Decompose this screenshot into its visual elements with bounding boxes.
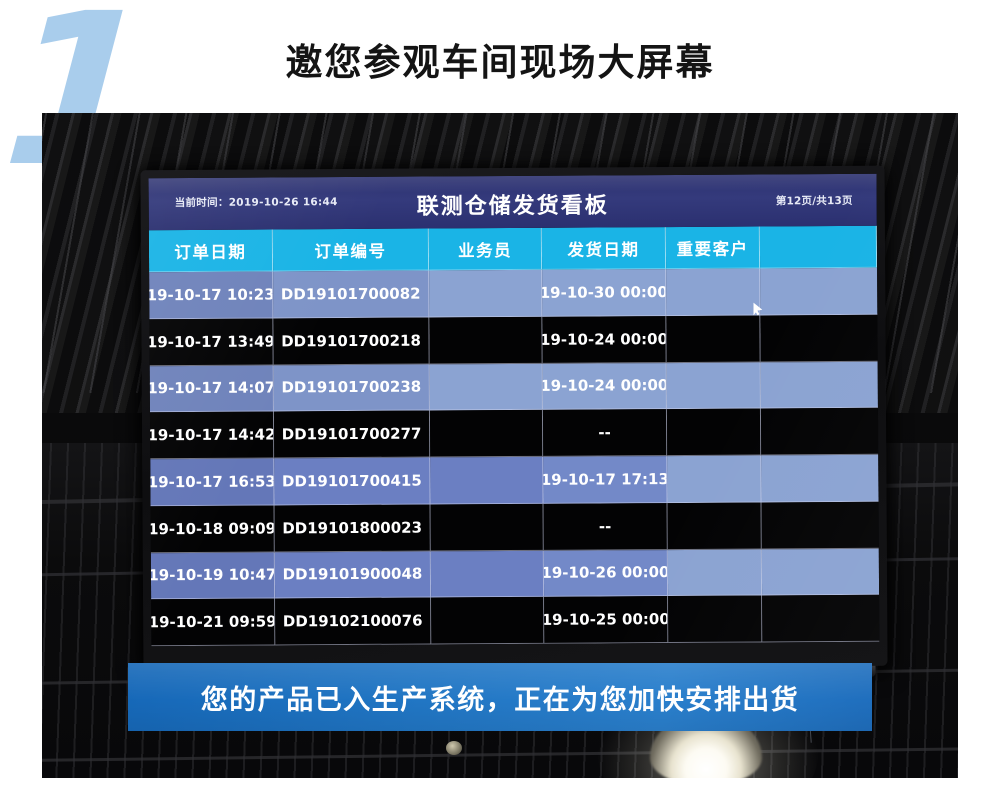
shipping-table: 订单日期 订单编号 业务员 发货日期 重要客户 19-10-17 10:23 D… (149, 226, 880, 646)
cell-ship-date: 19-10-24 00:00 (542, 316, 666, 364)
cell-order-no: DD19101700082 (273, 271, 430, 319)
cell-order-no: DD19101900048 (275, 551, 432, 599)
cell-key-customer (667, 409, 762, 456)
cell-key-customer (667, 362, 762, 409)
cell-extra (761, 268, 878, 315)
cell-order-no: DD19102100076 (275, 598, 432, 646)
cell-key-customer (666, 315, 761, 362)
cell-extra (762, 548, 879, 595)
cell-salesperson (430, 410, 543, 457)
table-row: 19-10-21 09:59 DD19102100076 19-10-25 00… (151, 595, 879, 646)
cell-order-date: 19-10-17 13:49 (149, 318, 273, 366)
dashboard-screen: 当前时间：2019-10-26 16:44 联测仓储发货看板 第12页/共13页… (149, 174, 880, 646)
cell-ship-date: 19-10-25 00:00 (544, 596, 668, 644)
cell-order-date: 19-10-17 16:53 (150, 458, 274, 506)
cell-extra (762, 455, 879, 502)
table-row: 19-10-17 14:07 DD19101700238 19-10-24 00… (150, 361, 878, 412)
column-header-ship-date: 发货日期 (542, 227, 666, 270)
table-row: 19-10-17 10:23 DD19101700082 19-10-30 00… (149, 268, 877, 319)
cell-ship-date: -- (543, 409, 667, 457)
cell-order-date: 19-10-17 14:42 (150, 412, 274, 460)
cell-key-customer (666, 268, 761, 315)
cell-key-customer (668, 596, 763, 643)
cell-ship-date: -- (544, 503, 668, 551)
cell-salesperson (431, 597, 544, 644)
promo-banner-text: 您的产品已入生产系统，正在为您加快安排出货 (201, 678, 800, 717)
wall-mounted-display: 当前时间：2019-10-26 16:44 联测仓储发货看板 第12页/共13页… (140, 166, 887, 671)
table-row: 19-10-19 10:47 DD19101900048 19-10-26 00… (151, 548, 879, 599)
cell-salesperson (431, 550, 544, 597)
cell-key-customer (667, 455, 762, 502)
table-row: 19-10-17 16:53 DD19101700415 19-10-17 17… (150, 455, 878, 506)
page-indicator: 第12页/共13页 (776, 193, 853, 208)
cell-order-no: DD19101700238 (273, 364, 430, 412)
table-header-row: 订单日期 订单编号 业务员 发货日期 重要客户 (149, 226, 877, 272)
table-row: 19-10-18 09:09 DD19101800023 -- (151, 502, 879, 553)
cell-extra (763, 595, 880, 642)
poster-page: 1 邀您参观车间现场大屏幕 当前时间：2019-10-26 16:44 联测仓储… (0, 0, 1000, 798)
ceiling-sensor (446, 741, 462, 755)
cell-extra (761, 408, 878, 455)
cell-extra (761, 361, 878, 408)
column-header-order-date: 订单日期 (149, 229, 273, 272)
cell-order-date: 19-10-17 10:23 (149, 271, 273, 319)
cell-ship-date: 19-10-17 17:13 (543, 456, 667, 504)
cell-order-date: 19-10-17 14:07 (150, 365, 274, 413)
cell-salesperson (431, 457, 544, 504)
dashboard-header-bar: 当前时间：2019-10-26 16:44 联测仓储发货看板 第12页/共13页 (149, 174, 877, 230)
column-header-blank (760, 226, 877, 269)
cell-order-date: 19-10-19 10:47 (151, 552, 275, 600)
cell-ship-date: 19-10-30 00:00 (542, 269, 666, 317)
cell-salesperson (430, 363, 543, 410)
cell-extra (761, 315, 878, 362)
column-header-order-no: 订单编号 (273, 229, 430, 272)
cell-order-no: DD19101700415 (274, 458, 431, 506)
promo-banner: 您的产品已入生产系统，正在为您加快安排出货 (128, 663, 872, 731)
cell-order-date: 19-10-18 09:09 (151, 505, 275, 553)
table-row: 19-10-17 13:49 DD19101700218 19-10-24 00… (149, 315, 877, 366)
cell-salesperson (431, 504, 544, 551)
cell-key-customer (668, 549, 763, 596)
cell-order-date: 19-10-21 09:59 (151, 599, 275, 647)
column-header-key-customer: 重要客户 (666, 226, 761, 269)
cell-ship-date: 19-10-26 00:00 (544, 550, 668, 598)
cell-extra (762, 502, 879, 549)
cell-salesperson (429, 270, 542, 317)
table-row: 19-10-17 14:42 DD19101700277 -- (150, 408, 878, 459)
cell-ship-date: 19-10-24 00:00 (543, 363, 667, 411)
dashboard-title: 联测仓储发货看板 (149, 186, 877, 222)
column-header-salesperson: 业务员 (429, 228, 542, 271)
cell-key-customer (667, 502, 762, 549)
page-title: 邀您参观车间现场大屏幕 (0, 32, 1000, 86)
cell-order-no: DD19101700218 (273, 317, 430, 365)
cell-salesperson (430, 317, 543, 364)
cell-order-no: DD19101800023 (274, 504, 431, 552)
cell-order-no: DD19101700277 (274, 411, 431, 459)
